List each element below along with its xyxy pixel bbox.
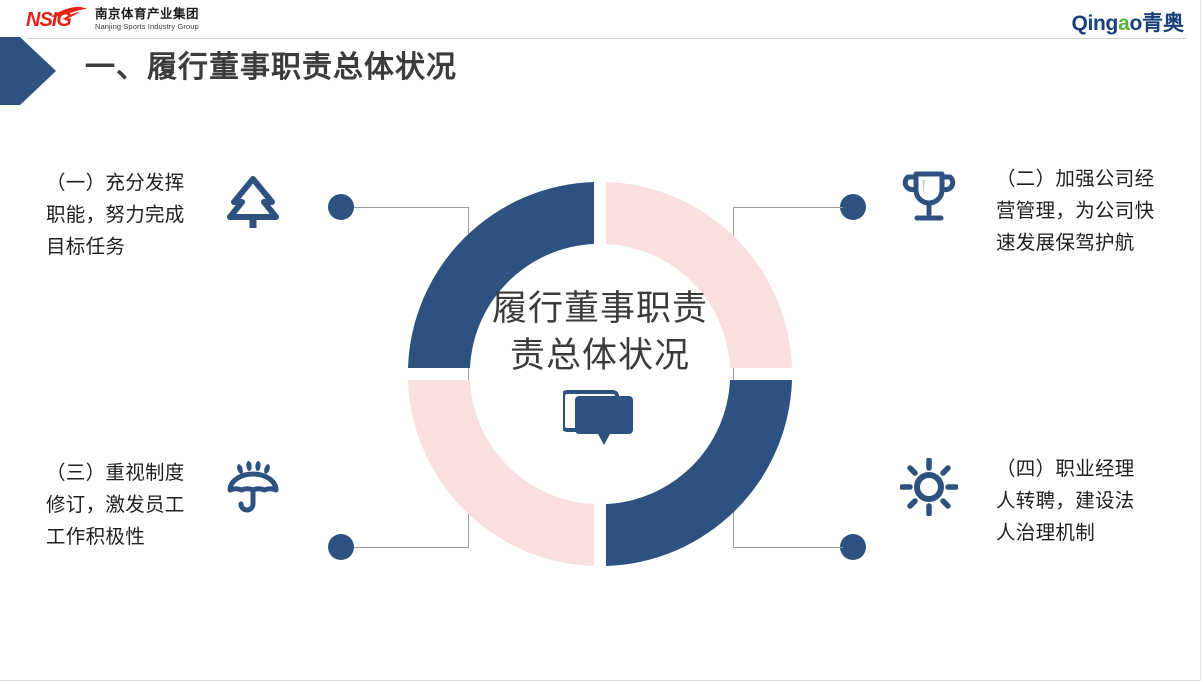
nsig-logo-icon: NSIG [26,8,88,32]
item-one-line1: （一）充分发挥 [46,168,222,200]
qingao-logo-icon: Qingao青奥 [1071,12,1184,36]
item-four-line2: 人转聘，建设法 [996,486,1172,518]
speech-bubble-icon [563,388,637,450]
item-two-line3: 速发展保驾护航 [996,228,1172,260]
item-three-text: （三）重视制度 修订，激发员工 工作积极性 [46,458,222,554]
umbrella-rain-icon [224,460,282,518]
pine-tree-icon [224,173,282,231]
qingao-a: a [1118,12,1129,35]
qingao-cn: 青奥 [1142,12,1184,35]
item-one-line3: 目标任务 [46,232,222,264]
company-name-cn: 南京体育产业集团 [95,8,199,21]
diagram-area: 履行董事职责 责总体状况 （一）充分发挥 职能，努力完成 目标任务 [0,120,1201,630]
item-four-text: （四）职业经理 人转聘，建设法 人治理机制 [996,454,1172,550]
item-three-line2: 修订，激发员工 [46,490,222,522]
title-arrow-icon [0,37,56,105]
donut-center-label: 履行董事职责 责总体状况 [470,285,730,379]
item-two-text: （二）加强公司经 营管理，为公司快 速发展保驾护航 [996,164,1172,260]
item-one-line2: 职能，努力完成 [46,200,222,232]
company-name-en: Nanjing Sports Industry Group [95,22,199,32]
header-divider [26,38,1186,39]
trophy-icon [900,168,958,226]
company-name-block: 南京体育产业集团 Nanjing Sports Industry Group [95,8,199,32]
connector-dot-bottom-right[interactable] [840,534,866,560]
sun-icon [900,458,958,516]
item-four-line3: 人治理机制 [996,518,1172,550]
item-one-text: （一）充分发挥 职能，努力完成 目标任务 [46,168,222,264]
item-two-line1: （二）加强公司经 [996,164,1172,196]
nsig-swoosh-icon [50,6,88,20]
donut-center-line1: 履行董事职责 [470,285,730,332]
donut-center-line2: 责总体状况 [470,332,730,379]
item-three-line1: （三）重视制度 [46,458,222,490]
item-two-line2: 营管理，为公司快 [996,196,1172,228]
slide-canvas: NSIG 南京体育产业集团 Nanjing Sports Industry Gr… [0,0,1201,681]
page-title: 一、履行董事职责总体状况 [85,46,457,90]
connector-dot-bottom-left[interactable] [328,534,354,560]
qingao-o: o [1129,12,1142,35]
company-logo-left: NSIG 南京体育产业集团 Nanjing Sports Industry Gr… [26,8,199,32]
connector-dot-top-right[interactable] [840,194,866,220]
item-four-line1: （四）职业经理 [996,454,1172,486]
qingao-q: Qing [1071,12,1118,35]
item-three-line3: 工作积极性 [46,522,222,554]
connector-dot-top-left[interactable] [328,194,354,220]
